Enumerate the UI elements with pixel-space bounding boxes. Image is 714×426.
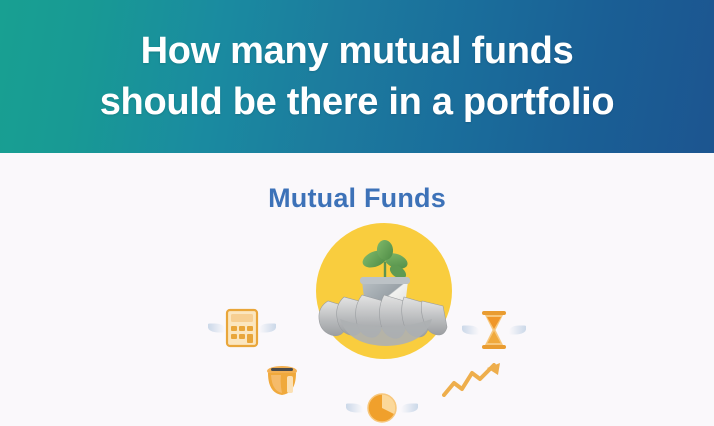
header-banner: How many mutual funds should be there in…: [0, 0, 714, 153]
slide-root: How many mutual funds should be there in…: [0, 0, 714, 426]
wing-left-icon: [462, 326, 479, 335]
wing-right-icon: [509, 326, 526, 335]
section-title: Mutual Funds: [0, 183, 714, 214]
wing-right-icon: [401, 404, 418, 413]
wing-right-icon: [259, 324, 276, 333]
wing-left-icon: [208, 324, 225, 333]
wing-left-icon: [346, 404, 363, 413]
header-title-line-1: How many mutual funds: [141, 26, 574, 76]
hero-yellow-disc: [316, 223, 452, 359]
content-area: Mutual Funds: [0, 153, 714, 426]
calculator-icon: [224, 308, 260, 348]
hourglass-icon: [478, 310, 510, 350]
header-title-line-2: should be there in a portfolio: [100, 77, 615, 127]
money-jar-icon: [262, 360, 302, 400]
coin-icon: [362, 390, 402, 426]
growth-arrow-icon: [442, 361, 504, 403]
